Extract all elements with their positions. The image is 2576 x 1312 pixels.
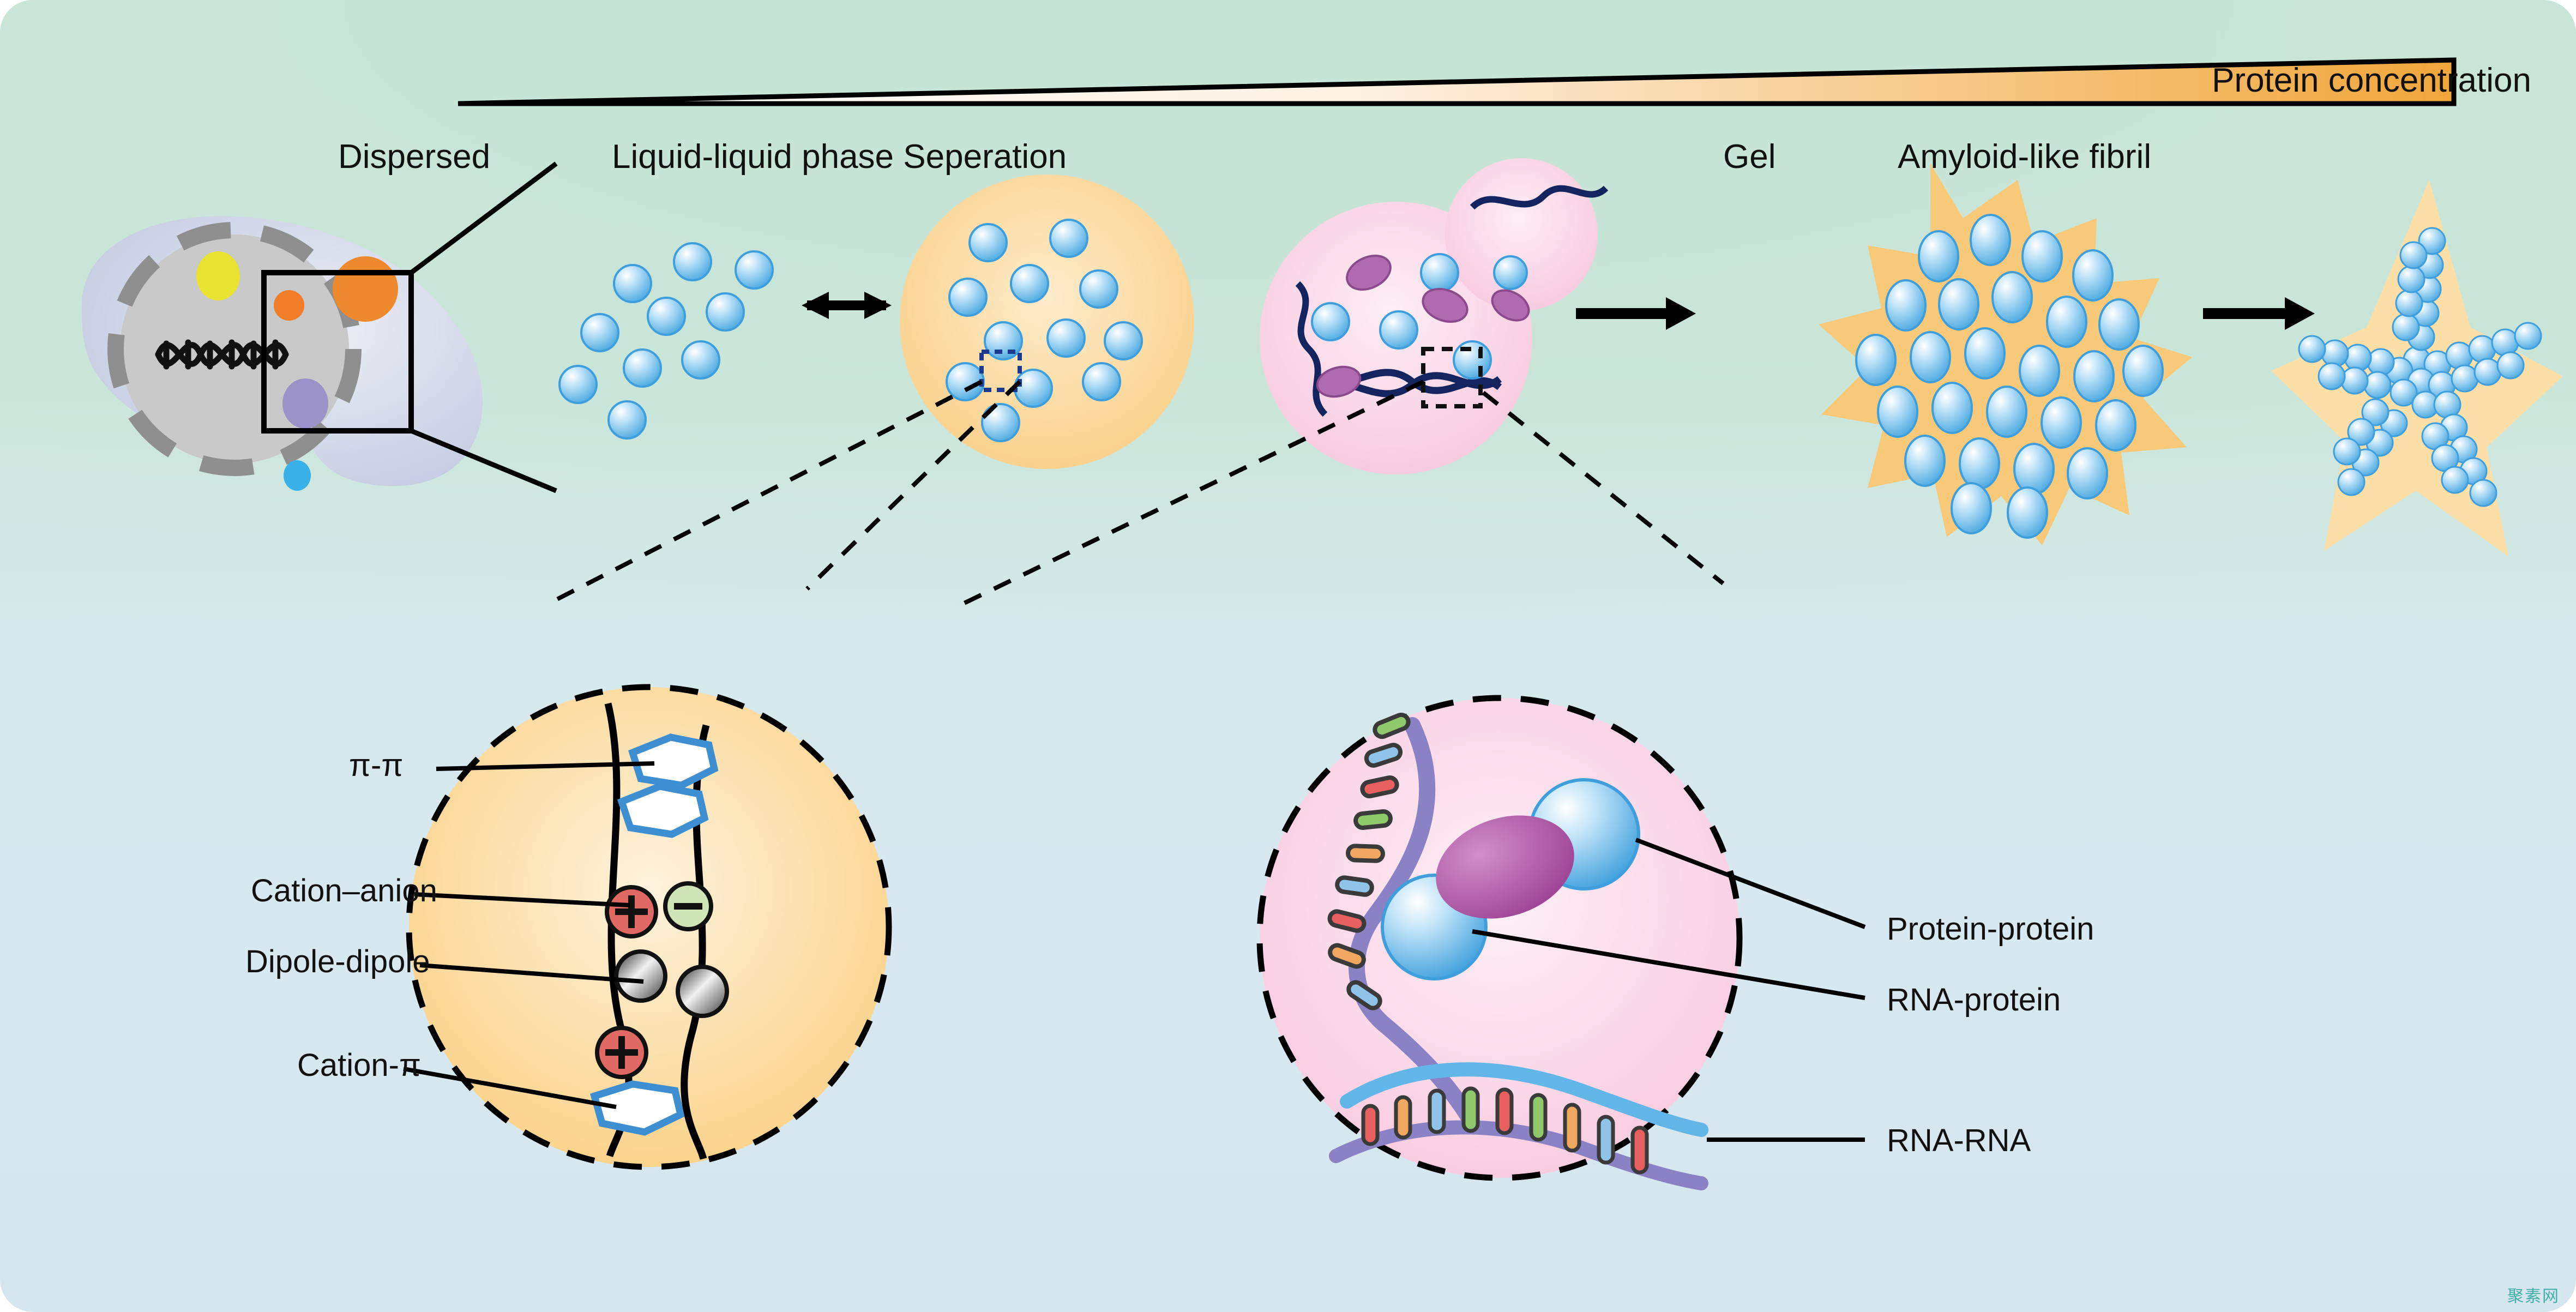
watermark: 聚素网 <box>2507 1283 2560 1307</box>
figure-canvas: Protein concentration Dispersed Liquid-l… <box>0 0 2576 1312</box>
interaction-label-protein-protein: Protein-protein <box>1887 911 2094 947</box>
stage-label-gel: Gel <box>1723 137 1775 176</box>
stage-label-fibril: Amyloid-like fibril <box>1898 137 2151 176</box>
protein-concentration-label: Protein concentration <box>2212 61 2531 100</box>
interaction-label-rna-protein: RNA-protein <box>1887 982 2061 1018</box>
interaction-label-dipole-dipole: Dipole-dipole <box>245 943 430 980</box>
interaction-label-pi-pi: π-π <box>349 747 403 784</box>
interaction-label-rna-rna: RNA-RNA <box>1887 1122 2031 1159</box>
stage-label-dispersed: Dispersed <box>338 137 490 176</box>
stage-label-llps: Liquid-liquid phase Seperation <box>612 137 1067 176</box>
interaction-label-cation-pi: Cation-π <box>297 1047 421 1084</box>
figure-background-gradient <box>0 0 2576 1312</box>
interaction-label-cation-anion: Cation–anion <box>251 872 437 909</box>
